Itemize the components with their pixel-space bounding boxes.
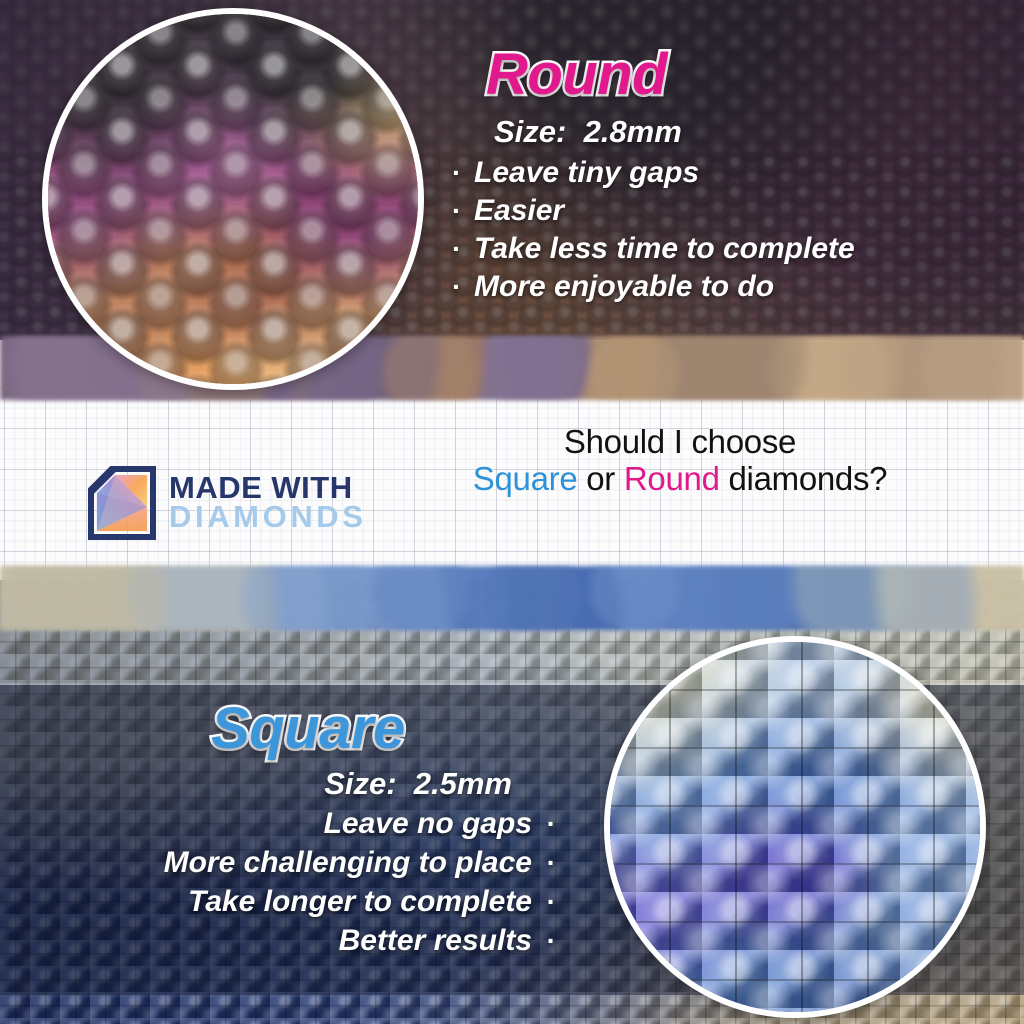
bullet-dot-icon: · xyxy=(452,269,474,305)
round-bullet-text: Take less time to complete xyxy=(474,230,855,268)
square-bullet-list: Leave no gaps · More challenging to plac… xyxy=(86,804,556,960)
center-heading-line-2: Square or Round diamonds? xyxy=(430,461,930,498)
center-word-round: Round xyxy=(624,460,720,497)
bullet-dot-icon: · xyxy=(452,155,474,191)
square-bullet-text: More challenging to place xyxy=(164,843,532,882)
square-drill-closeup-circle xyxy=(604,636,986,1018)
center-word-or: or xyxy=(577,460,623,497)
round-drill-closeup-circle xyxy=(42,8,424,390)
list-item: · Leave tiny gaps xyxy=(452,154,922,192)
bullet-dot-icon: · xyxy=(532,923,556,959)
brand-name-line-2: DIAMONDS xyxy=(169,503,367,532)
square-closeup-texture-row-b xyxy=(604,636,986,1018)
round-info-block: Round Size: 2.8mm · Leave tiny gaps · Ea… xyxy=(452,46,922,306)
bullet-dot-icon: · xyxy=(532,806,556,842)
center-question-heading: Should I choose Square or Round diamonds… xyxy=(430,424,930,498)
list-item: · Take less time to complete xyxy=(452,230,922,268)
round-closeup-texture-row-b xyxy=(42,8,424,390)
square-bullet-text: Better results xyxy=(339,921,532,960)
brand-logo-wordmark: MADE WITH DIAMONDS xyxy=(169,474,367,531)
square-size-label: Size: 2.5mm xyxy=(86,766,556,802)
round-bullet-text: Leave tiny gaps xyxy=(474,154,699,192)
brand-logo[interactable]: MADE WITH DIAMONDS xyxy=(88,466,367,540)
diamond-prism-logo-icon xyxy=(88,466,156,540)
list-item: · Easier xyxy=(452,192,922,230)
square-info-block: Square Size: 2.5mm Leave no gaps · More … xyxy=(86,700,556,960)
round-bullet-list: · Leave tiny gaps · Easier · Take less t… xyxy=(452,154,922,306)
list-item: Take longer to complete · xyxy=(86,882,556,921)
square-bullet-text: Leave no gaps xyxy=(324,804,532,843)
square-bullet-text: Take longer to complete xyxy=(188,882,532,921)
center-word-tail: diamonds? xyxy=(720,460,888,497)
square-title: Square xyxy=(86,700,556,758)
round-title: Round xyxy=(452,46,922,104)
round-bullet-text: More enjoyable to do xyxy=(474,268,774,306)
center-word-square: Square xyxy=(473,460,578,497)
list-item: Better results · xyxy=(86,921,556,960)
center-heading-line-1: Should I choose xyxy=(430,424,930,461)
round-bullet-text: Easier xyxy=(474,192,564,230)
list-item: · More enjoyable to do xyxy=(452,268,922,306)
round-size-label: Size: 2.8mm xyxy=(452,114,922,150)
bullet-dot-icon: · xyxy=(532,884,556,920)
bullet-dot-icon: · xyxy=(452,231,474,267)
bullet-dot-icon: · xyxy=(532,845,556,881)
list-item: Leave no gaps · xyxy=(86,804,556,843)
infographic-canvas: Round Size: 2.8mm · Leave tiny gaps · Ea… xyxy=(0,0,1024,1024)
bullet-dot-icon: · xyxy=(452,193,474,229)
list-item: More challenging to place · xyxy=(86,843,556,882)
